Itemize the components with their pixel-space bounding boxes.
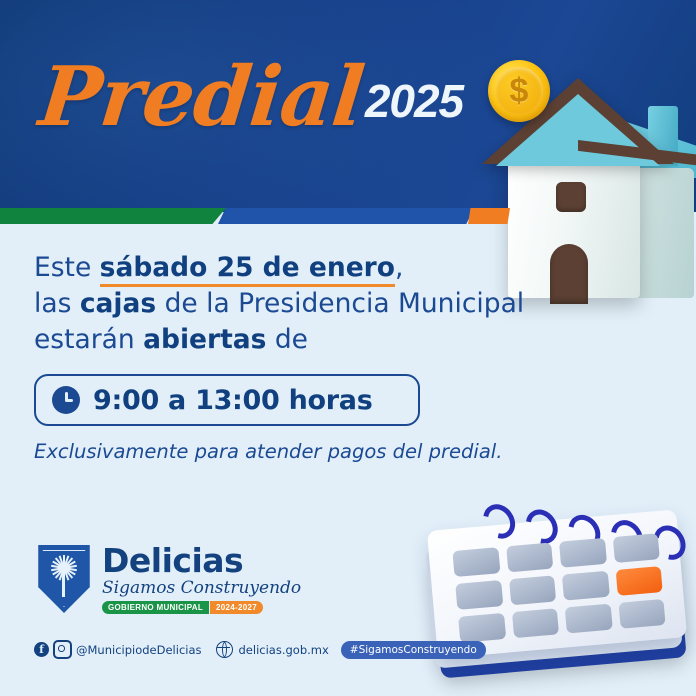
schedule-box: 9:00 a 13:00 horas xyxy=(34,374,420,426)
line3-prefix: estarán xyxy=(34,324,143,355)
poster-title: Predial 2025 xyxy=(40,58,463,137)
calendar-day-cell xyxy=(565,604,613,634)
city-crest-icon xyxy=(36,545,92,613)
facebook-icon[interactable] xyxy=(34,642,49,657)
line2-bold: cajas xyxy=(80,288,156,319)
calendar-day-cell xyxy=(506,543,554,573)
line1-suffix: , xyxy=(395,252,403,283)
logo-badges: GOBIERNO MUNICIPAL 2024-2027 xyxy=(102,601,301,614)
instagram-icon[interactable] xyxy=(53,640,72,659)
calendar-day-cell xyxy=(612,533,660,563)
disclaimer-note: Exclusivamente para atender pagos del pr… xyxy=(34,440,696,463)
line3-suffix: de xyxy=(266,324,308,355)
coin-dollar-symbol: $ xyxy=(488,60,550,122)
color-stripe-divider xyxy=(0,208,696,224)
website-url[interactable]: delicias.gob.mx xyxy=(239,643,329,657)
social-handle: @MunicipiodeDelicias xyxy=(76,643,202,657)
line1-prefix: Este xyxy=(34,252,100,283)
calendar-day-grid xyxy=(452,533,665,643)
dollar-coin-icon: $ xyxy=(488,60,550,122)
footer-bar: @MunicipiodeDelicias delicias.gob.mx #Si… xyxy=(34,640,486,659)
main-content: Este sábado 25 de enero, las cajas de la… xyxy=(0,224,696,463)
announcement-text: Este sábado 25 de enero, las cajas de la… xyxy=(34,250,634,358)
calendar-highlight-day xyxy=(615,566,663,596)
stripe-segment-orange xyxy=(468,208,510,224)
title-predial: Predial xyxy=(36,58,367,137)
calendar-day-cell xyxy=(559,538,607,568)
logo-text-block: Delicias Sigamos Construyendo GOBIERNO M… xyxy=(102,544,301,614)
predial-poster: Predial 2025 $ Este sábado 25 de ener xyxy=(0,0,696,696)
calendar-day-cell xyxy=(511,608,559,638)
stripe-segment-green xyxy=(0,208,226,224)
logo-city-name: Delicias xyxy=(102,544,301,578)
badge-period: 2024-2027 xyxy=(210,601,263,614)
line3-bold: abiertas xyxy=(143,324,266,355)
calendar-day-cell xyxy=(562,571,610,601)
line2-prefix: las xyxy=(34,288,80,319)
globe-icon xyxy=(216,641,233,658)
hashtag-pill: #SigamosConstruyendo xyxy=(341,641,486,659)
schedule-hours: 9:00 a 13:00 horas xyxy=(93,385,373,416)
calendar-day-cell xyxy=(452,547,500,577)
clock-icon xyxy=(52,386,80,414)
calendar-day-cell xyxy=(618,599,666,629)
calendar-day-cell xyxy=(455,580,503,610)
logo-tagline: Sigamos Construyendo xyxy=(102,578,301,598)
badge-gobierno-municipal: GOBIERNO MUNICIPAL xyxy=(102,601,209,614)
calendar-day-cell xyxy=(458,613,506,643)
line2-suffix: de la Presidencia Municipal xyxy=(156,288,524,319)
calendar-day-cell xyxy=(509,575,557,605)
stripe-segment-blue xyxy=(218,208,474,224)
municipal-logo: Delicias Sigamos Construyendo GOBIERNO M… xyxy=(36,544,301,614)
line1-date-highlight: sábado 25 de enero xyxy=(100,252,395,287)
title-year: 2025 xyxy=(365,74,463,128)
crest-inner-border xyxy=(41,550,87,607)
